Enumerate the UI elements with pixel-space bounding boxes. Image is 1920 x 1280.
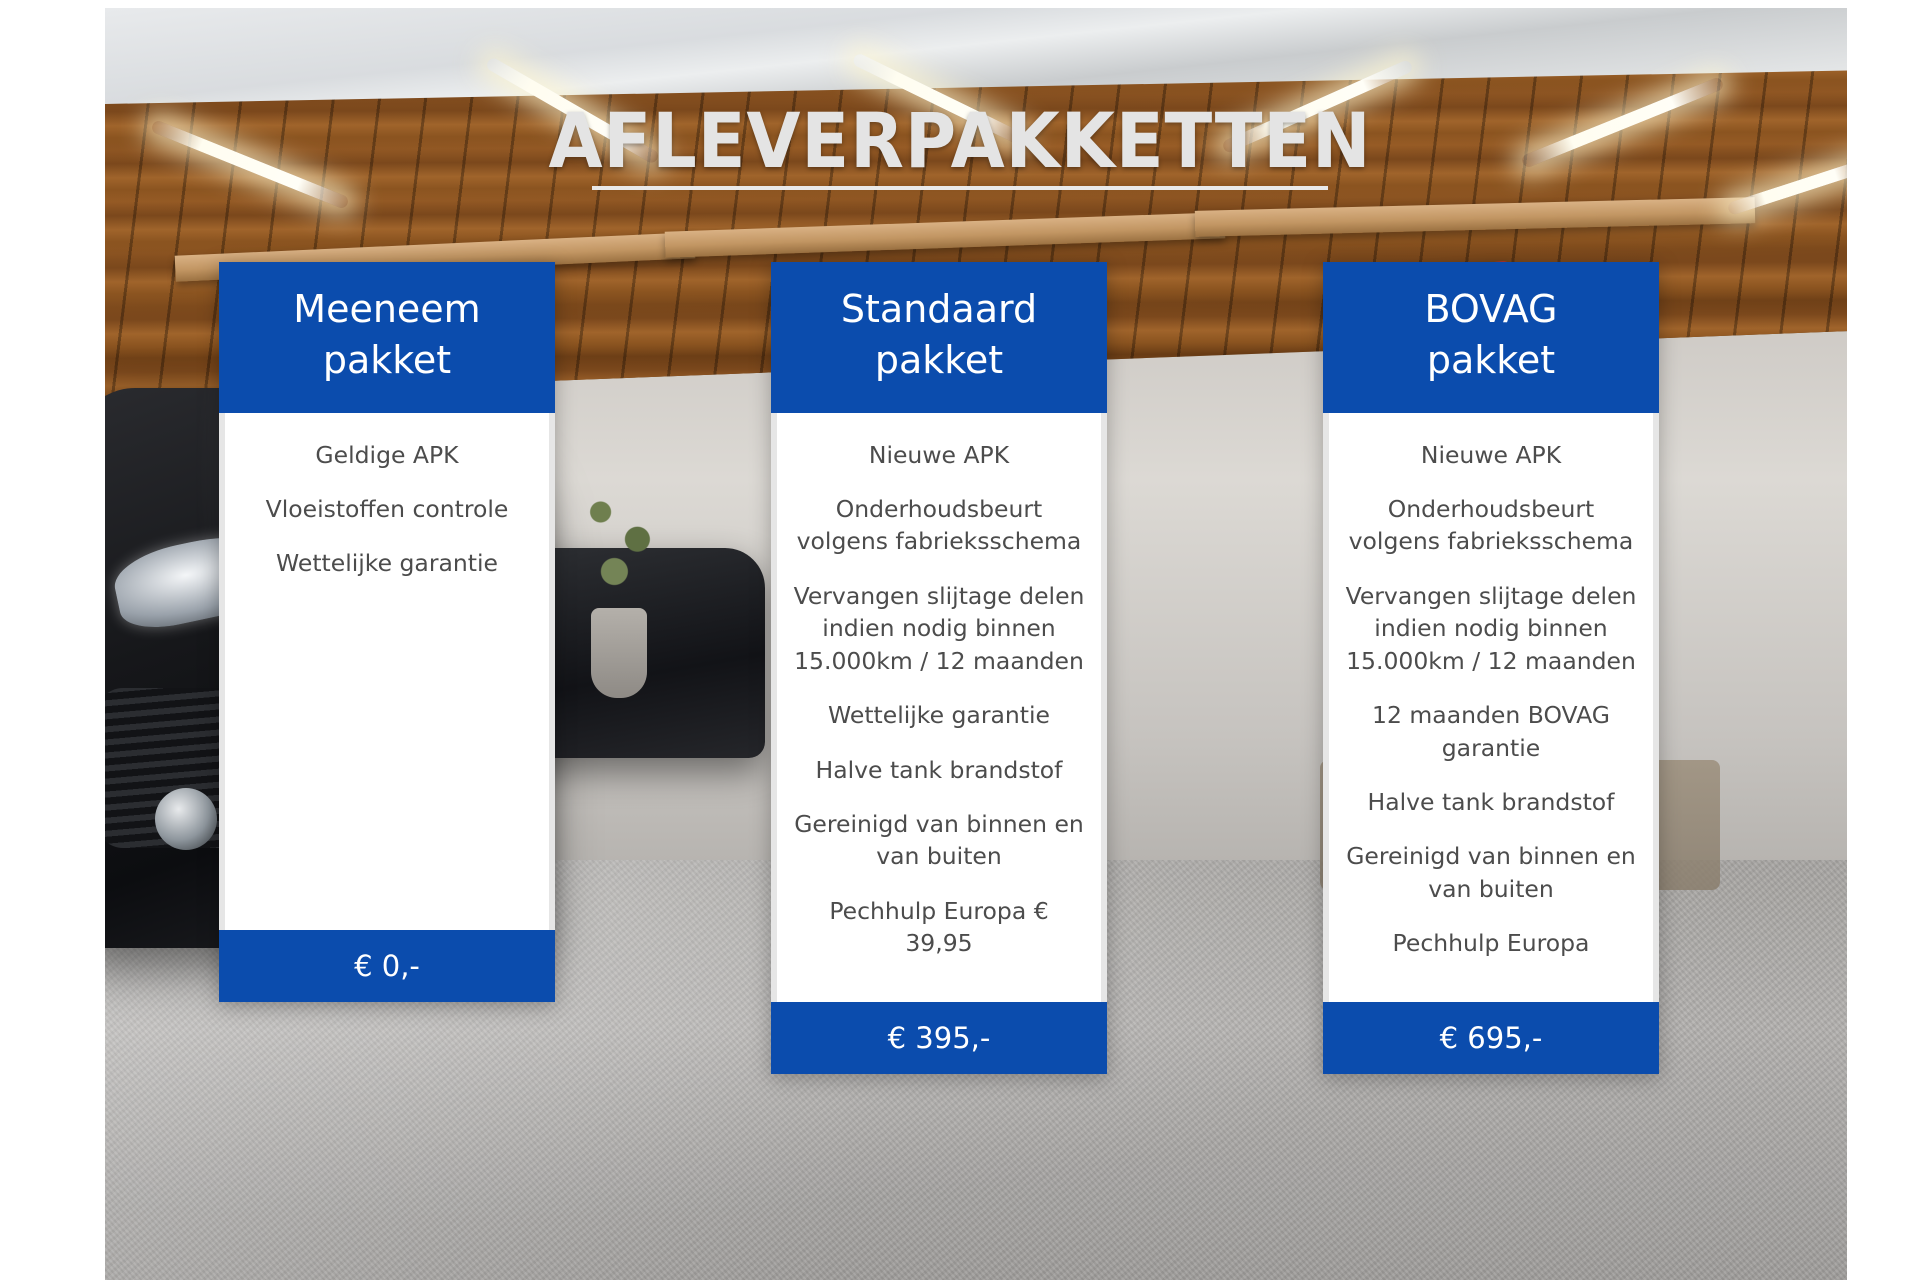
- package-card-meeneem[interactable]: Meeneem pakket Geldige APK Vloeistoffen …: [219, 262, 555, 1002]
- package-name-line1: BOVAG: [1333, 284, 1649, 335]
- slide-root: elf AFLEVERPAKKETTEN Meeneem pakket Geld…: [0, 0, 1920, 1280]
- page-title: AFLEVERPAKKETTEN: [77, 96, 1843, 185]
- package-price: € 395,-: [771, 1002, 1107, 1074]
- package-feature-list: Nieuwe APK Onderhoudsbeurt volgens fabri…: [1323, 413, 1659, 1002]
- package-feature: Halve tank brandstof: [1345, 786, 1637, 818]
- package-feature: Geldige APK: [241, 439, 533, 471]
- car-fog-lamp: [155, 788, 217, 850]
- package-feature: Nieuwe APK: [793, 439, 1085, 471]
- package-name-line1: Standaard: [781, 284, 1097, 335]
- package-feature-list: Nieuwe APK Onderhoudsbeurt volgens fabri…: [771, 413, 1107, 1002]
- package-feature: Nieuwe APK: [1345, 439, 1637, 471]
- package-feature: Halve tank brandstof: [793, 754, 1085, 786]
- package-card-header: Standaard pakket: [771, 262, 1107, 413]
- package-name-line1: Meeneem: [229, 284, 545, 335]
- package-card-standaard[interactable]: Standaard pakket Nieuwe APK Onderhoudsbe…: [771, 262, 1107, 1002]
- package-price: € 695,-: [1323, 1002, 1659, 1074]
- package-card-list: Meeneem pakket Geldige APK Vloeistoffen …: [219, 262, 1659, 1002]
- package-name-line2: pakket: [1333, 335, 1649, 386]
- package-card-bovag[interactable]: BOVAG pakket Nieuwe APK Onderhoudsbeurt …: [1323, 262, 1659, 1002]
- package-feature: Gereinigd van binnen en van buiten: [1345, 840, 1637, 905]
- package-feature: Pechhulp Europa € 39,95: [793, 895, 1085, 960]
- package-feature: Vervangen slijtage delen indien nodig bi…: [1345, 580, 1637, 677]
- package-card-header: BOVAG pakket: [1323, 262, 1659, 413]
- package-feature: Pechhulp Europa: [1345, 927, 1637, 959]
- package-name-line2: pakket: [229, 335, 545, 386]
- package-feature: Vervangen slijtage delen indien nodig bi…: [793, 580, 1085, 677]
- package-price: € 0,-: [219, 930, 555, 1002]
- package-feature: Wettelijke garantie: [793, 699, 1085, 731]
- package-feature: Vloeistoffen controle: [241, 493, 533, 525]
- package-feature: Onderhoudsbeurt volgens fabrieksschema: [793, 493, 1085, 558]
- package-feature: 12 maanden BOVAG garantie: [1345, 699, 1637, 764]
- package-feature: Onderhoudsbeurt volgens fabrieksschema: [1345, 493, 1637, 558]
- package-name-line2: pakket: [781, 335, 1097, 386]
- package-feature: Gereinigd van binnen en van buiten: [793, 808, 1085, 873]
- title-divider: [592, 186, 1328, 190]
- package-card-header: Meeneem pakket: [219, 262, 555, 413]
- package-feature-list: Geldige APK Vloeistoffen controle Wettel…: [219, 413, 555, 930]
- package-feature: Wettelijke garantie: [241, 547, 533, 579]
